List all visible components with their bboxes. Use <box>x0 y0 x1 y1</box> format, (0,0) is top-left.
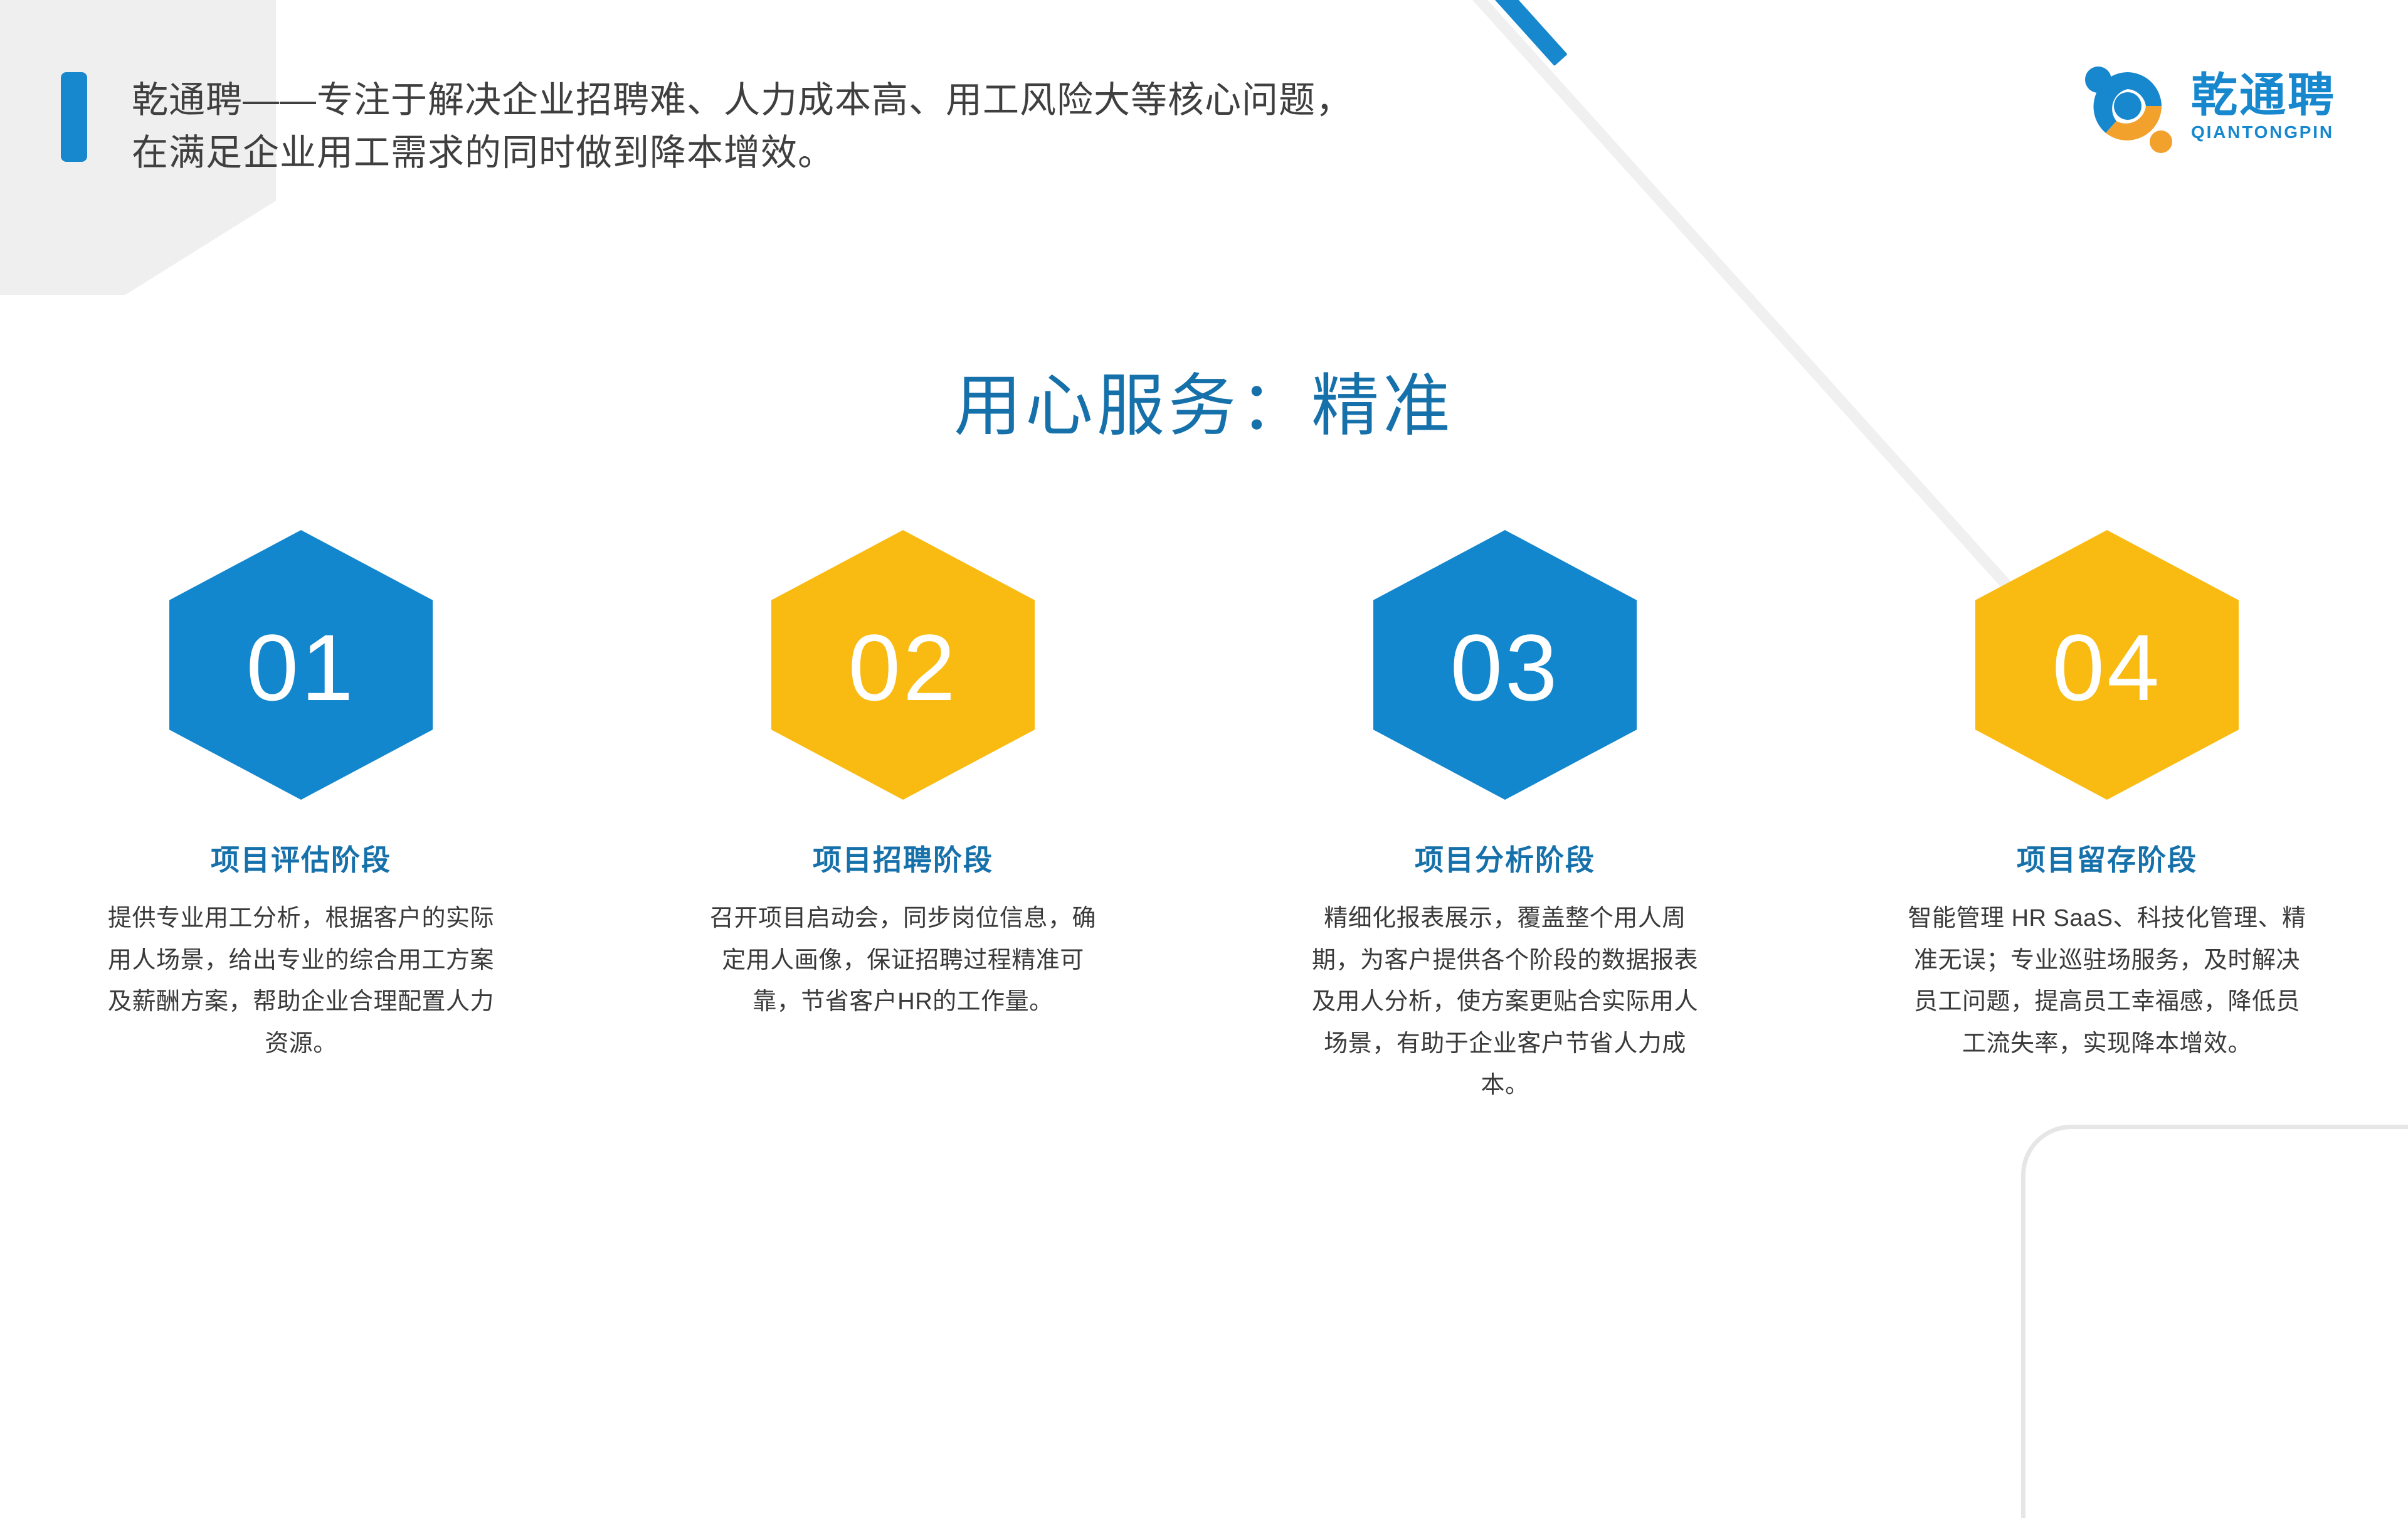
stage-hexagon-02: 02 <box>771 530 1035 800</box>
stage-number: 03 <box>1450 620 1560 714</box>
header: 乾通聘——专注于解决企业招聘难、人力成本高、用工风险大等核心问题， 在满足企业用… <box>0 0 2408 295</box>
header-line-2: 在满足企业用工需求的同时做到降本增效。 <box>132 127 1762 179</box>
logo-circle-icon <box>2081 60 2175 154</box>
stage-number: 02 <box>848 620 958 714</box>
brand-logo: 乾通聘 QIANTONGPIN <box>2081 60 2336 154</box>
stage-heading: 项目留存阶段 <box>2017 837 2197 879</box>
header-line-1: 乾通聘——专注于解决企业招聘难、人力成本高、用工风险大等核心问题， <box>132 74 1762 127</box>
header-accent-bar <box>61 72 87 162</box>
stage-card: 04 项目留存阶段 智能管理 HR SaaS、科技化管理、精准无误；专业巡驻场服… <box>1806 530 2408 1220</box>
stage-card: 01 项目评估阶段 提供专业用工分析，根据客户的实际用人场景，给出专业的综合用工… <box>0 530 602 1220</box>
stage-card: 02 项目招聘阶段 召开项目启动会，同步岗位信息，确定用人画像，保证招聘过程精准… <box>602 530 1204 1220</box>
stage-heading: 项目招聘阶段 <box>813 837 993 879</box>
header-statement: 乾通聘——专注于解决企业招聘难、人力成本高、用工风险大等核心问题， 在满足企业用… <box>132 74 1762 179</box>
stage-heading: 项目评估阶段 <box>211 837 391 879</box>
stage-description: 召开项目启动会，同步岗位信息，确定用人画像，保证招聘过程精准可靠，节省客户HR的… <box>702 898 1104 1023</box>
logo-chinese-name: 乾通聘 <box>2191 72 2336 119</box>
stage-number: 01 <box>246 620 356 714</box>
stage-heading: 项目分析阶段 <box>1415 837 1595 879</box>
stage-cards: 01 项目评估阶段 提供专业用工分析，根据客户的实际用人场景，给出专业的综合用工… <box>0 530 2408 1220</box>
stage-number: 04 <box>2052 620 2162 714</box>
stage-description: 精细化报表展示，覆盖整个用人周期，为客户提供各个阶段的数据报表及用人分析，使方案… <box>1304 898 1706 1107</box>
stage-description: 智能管理 HR SaaS、科技化管理、精准无误；专业巡驻场服务，及时解决员工问题… <box>1906 898 2308 1064</box>
stage-hexagon-04: 04 <box>1975 530 2239 800</box>
stage-description: 提供专业用工分析，根据客户的实际用人场景，给出专业的综合用工方案及薪酬方案，帮助… <box>100 898 502 1064</box>
stage-hexagon-01: 01 <box>169 530 433 800</box>
stage-hexagon-03: 03 <box>1373 530 1637 800</box>
stage-card: 03 项目分析阶段 精细化报表展示，覆盖整个用人周期，为客户提供各个阶段的数据报… <box>1204 530 1806 1220</box>
section-title: 用心服务：精准 <box>0 351 2408 449</box>
logo-pinyin: QIANTONGPIN <box>2191 124 2336 141</box>
logo-wordmark: 乾通聘 QIANTONGPIN <box>2191 72 2336 141</box>
